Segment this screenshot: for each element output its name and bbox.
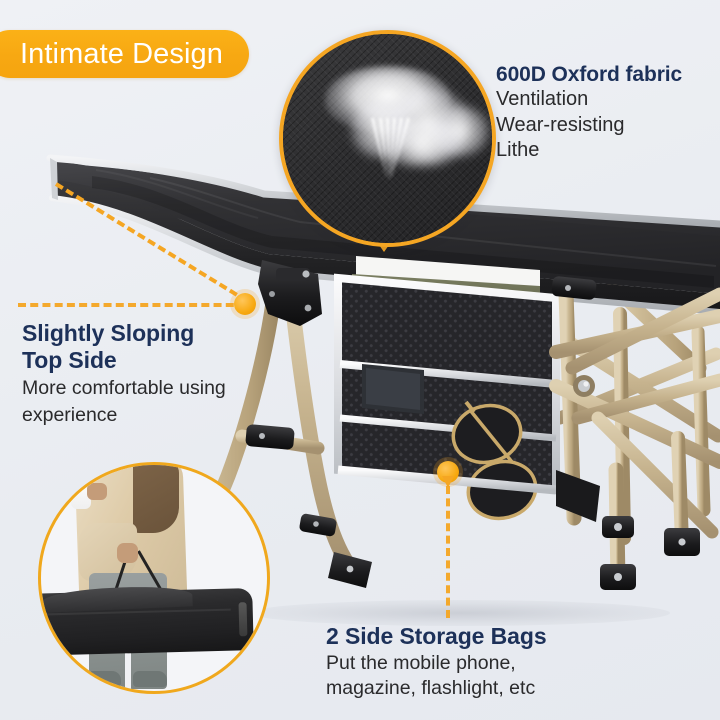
section-title-text: Intimate Design (20, 39, 223, 69)
fabric-closeup-inset (279, 30, 496, 247)
person-hand-cup (87, 483, 107, 500)
callout-top-side: Slightly Sloping Top Side More comfortab… (22, 320, 302, 428)
slope-reference-dashed-line (18, 303, 246, 307)
person-hand-bag (117, 543, 138, 563)
callout-top-side-heading-line-1: Slightly Sloping (22, 320, 302, 347)
storage-callout-dashed-line (446, 486, 450, 618)
callout-fabric-line-1: Ventilation (496, 87, 720, 113)
callout-top-side-body-line-1: More comfortable using (22, 376, 302, 401)
callout-storage-body-line-1: Put the mobile phone, (326, 651, 716, 675)
carry-bag (38, 588, 254, 656)
infographic-canvas: Intimate Design 600D Oxford fabric Venti… (0, 0, 720, 720)
storage-callout-pin (437, 461, 459, 483)
callout-storage: 2 Side Storage Bags Put the mobile phone… (326, 622, 716, 700)
section-title-banner: Intimate Design (0, 30, 249, 78)
callout-fabric: 600D Oxford fabric Ventilation Wear-resi… (496, 62, 720, 164)
callout-top-side-heading-line-2: Top Side (22, 347, 302, 374)
carry-bag-fold (42, 584, 193, 613)
person-shoe-left (87, 671, 121, 687)
carry-bag-zipper (239, 602, 248, 636)
carry-bag-inset (38, 462, 270, 694)
callout-fabric-line-2: Wear-resisting (496, 113, 720, 139)
callout-storage-heading: 2 Side Storage Bags (326, 622, 716, 650)
person-shoe-right (133, 671, 167, 687)
slope-callout-pin (234, 293, 256, 315)
callout-top-side-body-line-2: experience (22, 403, 302, 428)
callout-storage-body-line-2: magazine, flashlight, etc (326, 676, 716, 700)
callout-fabric-heading: 600D Oxford fabric (496, 62, 720, 87)
person-shoulder (133, 462, 179, 533)
callout-fabric-line-3: Lithe (496, 138, 720, 164)
